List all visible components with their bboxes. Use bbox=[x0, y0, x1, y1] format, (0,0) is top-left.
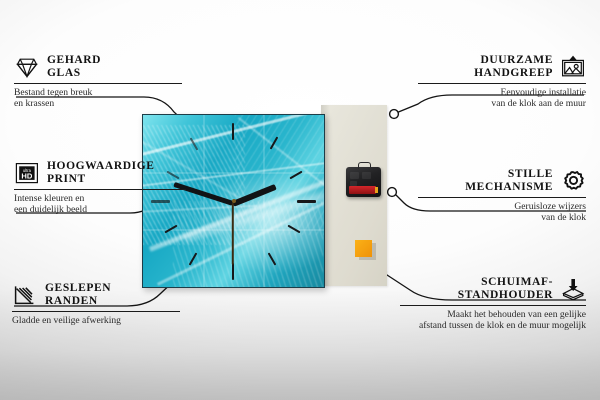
leader-endpoint-mechanism bbox=[388, 188, 397, 197]
callout-duurzame-handgreep: DUURZAME HANDGREEP Eenvoudige installati… bbox=[418, 54, 586, 110]
glass-reflection-line bbox=[263, 115, 265, 287]
ultra-hd-icon: ultra HD bbox=[14, 161, 40, 185]
clock-center-pin bbox=[232, 199, 236, 203]
svg-text:HD: HD bbox=[21, 172, 32, 181]
callout-subtitle: Gladde en veilige afwerking bbox=[12, 315, 180, 326]
callout-title: GESLEPEN RANDEN bbox=[45, 282, 111, 308]
glass-reflection-line bbox=[203, 115, 205, 287]
diamond-icon bbox=[14, 55, 40, 79]
callout-subtitle: Maakt het behouden van een gelijke afsta… bbox=[400, 309, 586, 332]
callout-title: STILLE MECHANISME bbox=[465, 168, 553, 194]
leader-endpoint-handle bbox=[390, 110, 399, 119]
callout-title: GEHARD GLAS bbox=[47, 54, 101, 80]
mechanism-battery bbox=[349, 186, 376, 194]
clock-tick-3 bbox=[297, 200, 316, 203]
quartz-mechanism bbox=[346, 167, 381, 197]
beveled-edges-icon bbox=[12, 283, 38, 307]
product-feature-infographic: GEHARD GLAS Bestand tegen breuk en krass… bbox=[0, 0, 600, 400]
foam-spacer bbox=[355, 240, 372, 257]
press-down-pad-icon bbox=[560, 277, 586, 301]
callout-header: GEHARD GLAS bbox=[14, 54, 182, 80]
mechanism-hanger bbox=[358, 162, 371, 169]
callout-title: SCHUIMAF- STANDHOUDER bbox=[458, 276, 553, 302]
callout-title: DUURZAME HANDGREEP bbox=[474, 54, 553, 80]
callout-schuimafstandhouder: SCHUIMAF- STANDHOUDER Maakt het behouden… bbox=[400, 276, 586, 332]
callout-subtitle: Geruisloze wijzers van de klok bbox=[418, 201, 586, 224]
mechanism-detail bbox=[350, 172, 359, 179]
callout-header: STILLE MECHANISME bbox=[418, 168, 586, 194]
callout-hoogwaardige-print: ultra HD HOOGWAARDIGE PRINT Intense kleu… bbox=[14, 160, 186, 216]
callout-divider bbox=[418, 83, 586, 84]
callout-subtitle: Intense kleuren en een duidelijk beeld bbox=[14, 193, 186, 216]
callout-header: DUURZAME HANDGREEP bbox=[418, 54, 586, 80]
callout-divider bbox=[14, 83, 182, 84]
gear-icon bbox=[560, 169, 586, 193]
clock-tick-6 bbox=[232, 263, 234, 280]
clock-tick-12 bbox=[232, 123, 234, 140]
callout-header: GESLEPEN RANDEN bbox=[12, 282, 180, 308]
callout-gehard-glas: GEHARD GLAS Bestand tegen breuk en krass… bbox=[14, 54, 182, 110]
callout-subtitle: Bestand tegen breuk en krassen bbox=[14, 87, 182, 110]
callout-divider bbox=[12, 311, 180, 312]
callout-geslepen-randen: GESLEPEN RANDEN Gladde en veilige afwerk… bbox=[12, 282, 180, 326]
callout-stille-mechanisme: STILLE MECHANISME Geruisloze wijzers van… bbox=[418, 168, 586, 224]
callout-title: HOOGWAARDIGE PRINT bbox=[47, 160, 155, 186]
callout-divider bbox=[418, 197, 586, 198]
callout-subtitle: Eenvoudige installatie van de klok aan d… bbox=[418, 87, 586, 110]
mechanism-detail bbox=[362, 172, 371, 179]
callout-divider bbox=[14, 189, 186, 190]
callout-header: ultra HD HOOGWAARDIGE PRINT bbox=[14, 160, 186, 186]
clock-second-hand bbox=[232, 202, 234, 264]
callout-divider bbox=[400, 305, 586, 306]
callout-header: SCHUIMAF- STANDHOUDER bbox=[400, 276, 586, 302]
picture-frame-icon bbox=[560, 55, 586, 79]
